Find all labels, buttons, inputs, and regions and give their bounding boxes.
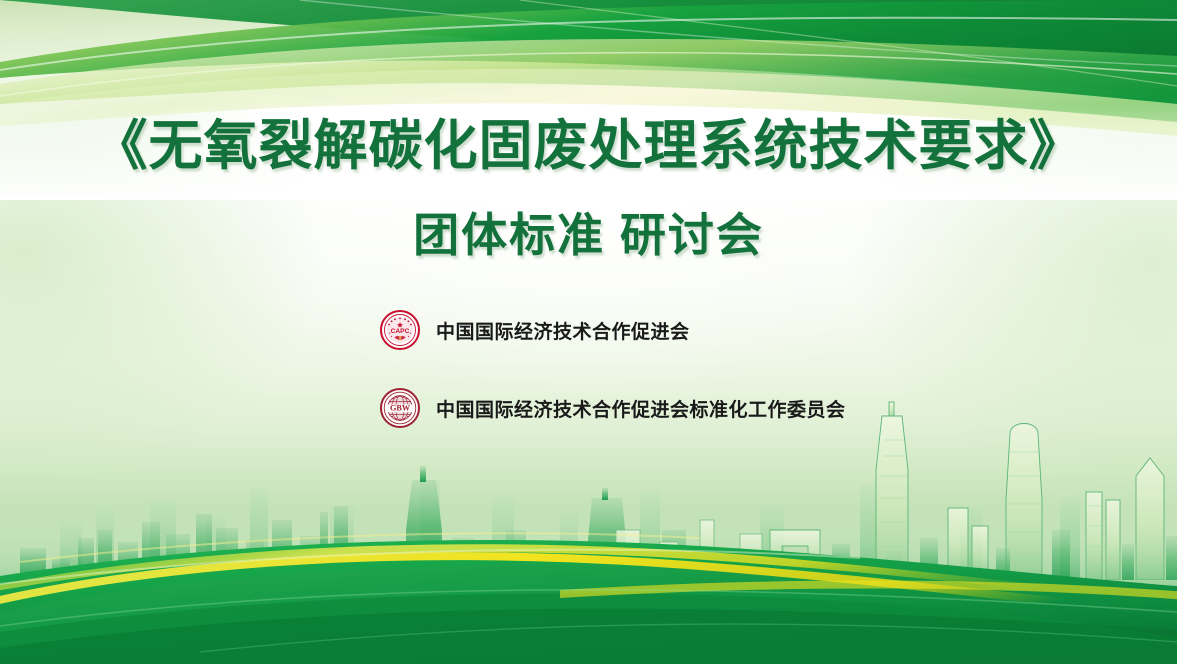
capc-seal-text: CAPC xyxy=(391,328,410,335)
organization-name-capc: 中国国际经济技术合作促进会 xyxy=(436,317,690,344)
organization-row-gbw: GBW xyxy=(380,388,846,428)
organization-name-gbw: 中国国际经济技术合作促进会标准化工作委员会 xyxy=(436,395,846,422)
slide-title-subtitle: 团体标准 研讨会 xyxy=(0,206,1177,264)
slide-title-main: 《无氧裂解碳化固废处理系统技术要求》 xyxy=(0,114,1177,178)
organization-row-capc: CAPC 中国国际经济技术合作促进会 xyxy=(380,310,690,350)
gbw-seal-icon: GBW xyxy=(380,388,420,428)
presentation-slide: 《无氧裂解碳化固废处理系统技术要求》 团体标准 研讨会 xyxy=(0,0,1177,664)
gbw-seal-text: GBW xyxy=(390,404,411,413)
capc-seal-icon: CAPC xyxy=(380,310,420,350)
